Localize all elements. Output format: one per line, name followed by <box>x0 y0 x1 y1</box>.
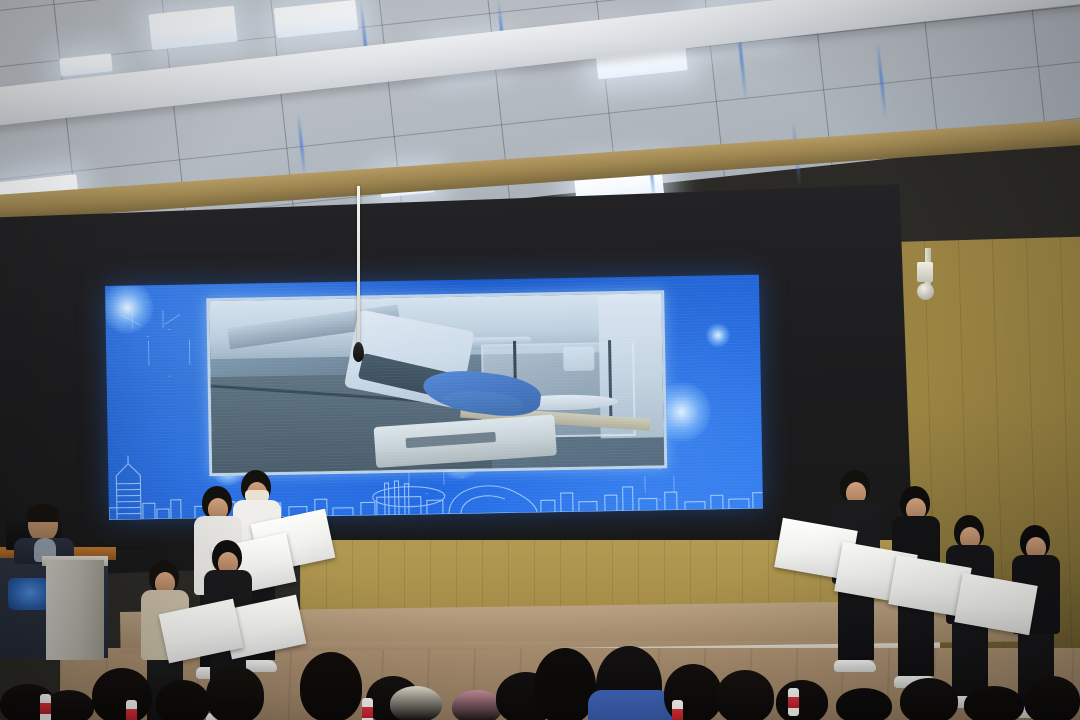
seated-operator-hair <box>27 504 59 522</box>
hanging-microphone-capsule <box>353 342 364 362</box>
lecture-hall-photo <box>0 0 1080 720</box>
audience-head <box>534 648 596 720</box>
audience-head <box>900 678 958 720</box>
bottle-label <box>788 697 799 708</box>
audience-head <box>776 680 828 720</box>
audience-head <box>1024 676 1080 720</box>
audience-head <box>300 652 362 720</box>
led-glow-dot <box>706 323 730 347</box>
audience-head <box>716 670 774 720</box>
audience-head <box>44 690 94 720</box>
audience-cap <box>390 686 442 720</box>
bottle-label <box>362 707 373 718</box>
presenter-legs <box>898 600 934 676</box>
water-bottle <box>362 698 373 720</box>
water-bottle <box>40 694 51 720</box>
video-blue-tint-overlay <box>209 293 664 473</box>
lectern <box>46 560 104 660</box>
audience-head <box>156 680 210 720</box>
hexagon-molecule-icon <box>148 329 191 378</box>
hanging-microphone-cable <box>357 186 360 346</box>
ptz-dome-camera-icon <box>917 283 934 300</box>
audience-head <box>92 668 152 720</box>
bottle-label <box>126 709 137 720</box>
water-bottle <box>672 700 683 720</box>
audience-head <box>964 686 1024 720</box>
audience-blue-shirt <box>588 690 672 720</box>
presenter-shoe <box>834 660 876 672</box>
audience-head <box>836 688 892 720</box>
bottle-label <box>40 703 51 714</box>
presenter-legs <box>952 624 988 696</box>
camera-housing <box>917 262 933 282</box>
audience-head <box>206 666 264 720</box>
audience-head <box>452 690 502 720</box>
led-video-wall[interactable] <box>105 275 763 520</box>
video-playback-panel[interactable] <box>206 290 667 476</box>
water-bottle <box>788 688 799 716</box>
bottle-label <box>672 709 683 720</box>
water-bottle <box>126 700 137 720</box>
molecule-bond <box>165 314 181 325</box>
